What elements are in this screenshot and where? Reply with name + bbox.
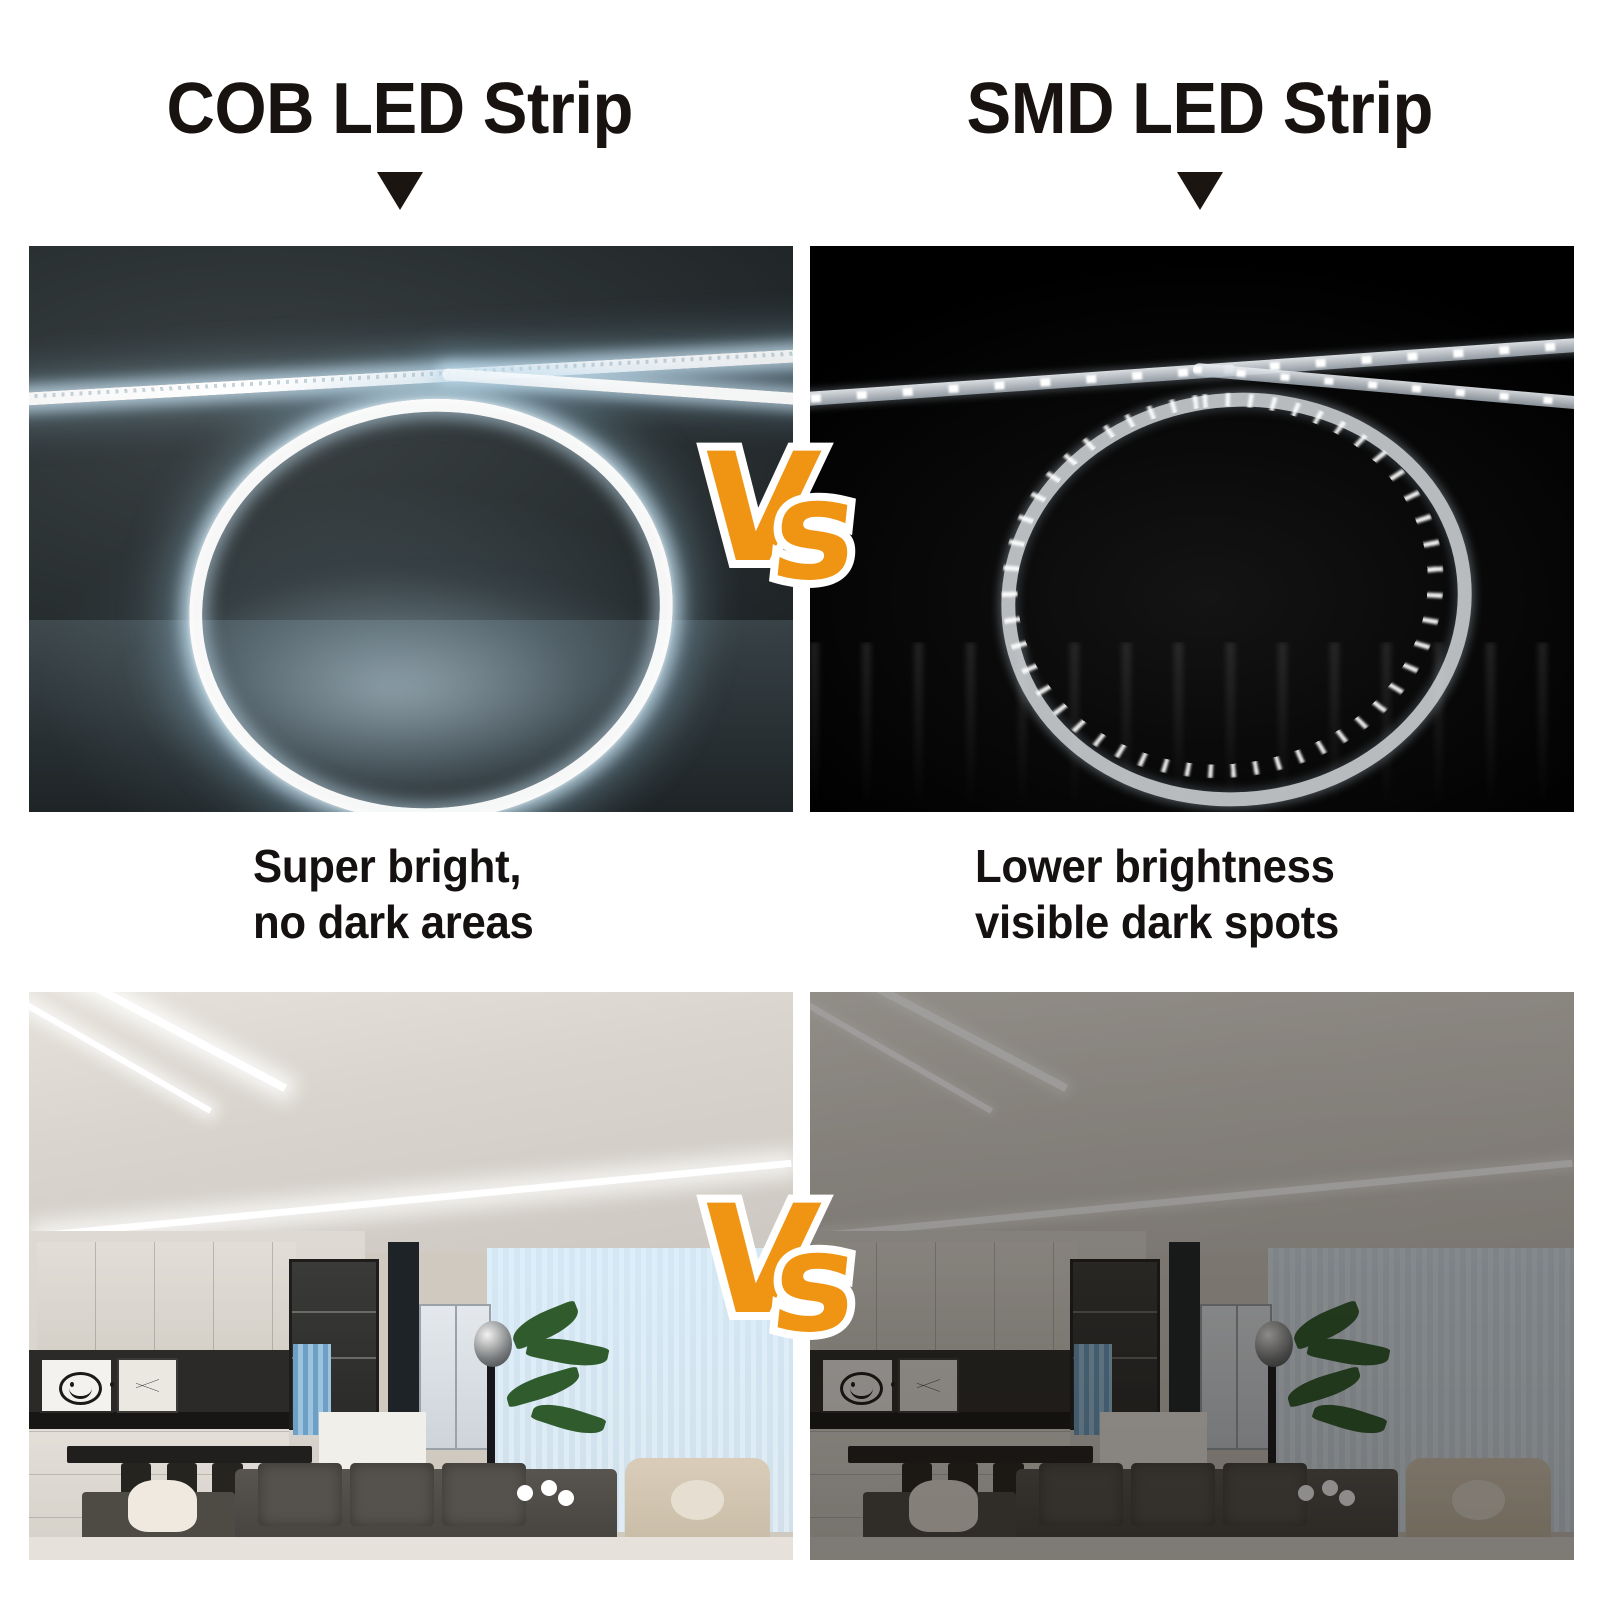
- countertop: [29, 1412, 304, 1429]
- floor: [29, 1537, 793, 1560]
- arrow-cell-cob: [0, 172, 800, 218]
- heading-cell-cob: COB LED Strip: [0, 54, 800, 164]
- comparison-infographic: COB LED Strip SMD LED Strip V s: [0, 0, 1600, 1600]
- cushion: [258, 1463, 342, 1525]
- upper-cabinets: [37, 1242, 297, 1352]
- dim-gradient-overlay: [810, 992, 1574, 1560]
- cob-heading: COB LED Strip: [167, 73, 633, 145]
- ceiling: [29, 992, 793, 1253]
- smiley-art-frame: [40, 1358, 113, 1413]
- heading-cell-smd: SMD LED Strip: [800, 54, 1600, 164]
- dining-table: [67, 1446, 311, 1463]
- smd-room-photo: [810, 992, 1574, 1560]
- leaf-icon: [136, 1366, 159, 1405]
- room-scene-dim: [810, 992, 1574, 1560]
- smiley-face-icon: [59, 1372, 102, 1406]
- vs-badge-top: V s: [692, 428, 892, 598]
- cob-room-photo: [29, 992, 793, 1560]
- smd-heading: SMD LED Strip: [967, 73, 1433, 145]
- vs-letter-s: s: [767, 462, 864, 600]
- leaf-art-frame: [117, 1358, 178, 1413]
- room-scene-bright: [29, 992, 793, 1560]
- arrows-row: [0, 172, 1600, 218]
- vs-badge-bottom: V s: [692, 1180, 892, 1350]
- throw-blanket: [128, 1480, 197, 1531]
- smd-caption: Lower brightness visible dark spots: [975, 838, 1339, 950]
- arrow-cell-smd: [800, 172, 1600, 218]
- cushion: [350, 1463, 434, 1525]
- round-cushion: [671, 1480, 724, 1520]
- cob-led-strip-photo: [29, 246, 793, 812]
- triangle-down-icon: [377, 172, 423, 210]
- smd-led-strip-photo: [810, 246, 1574, 812]
- vs-letter-s: s: [767, 1214, 864, 1352]
- cob-caption: Super bright, no dark areas: [253, 838, 534, 950]
- headings-row: COB LED Strip SMD LED Strip: [0, 54, 1600, 164]
- triangle-down-icon: [1177, 172, 1223, 210]
